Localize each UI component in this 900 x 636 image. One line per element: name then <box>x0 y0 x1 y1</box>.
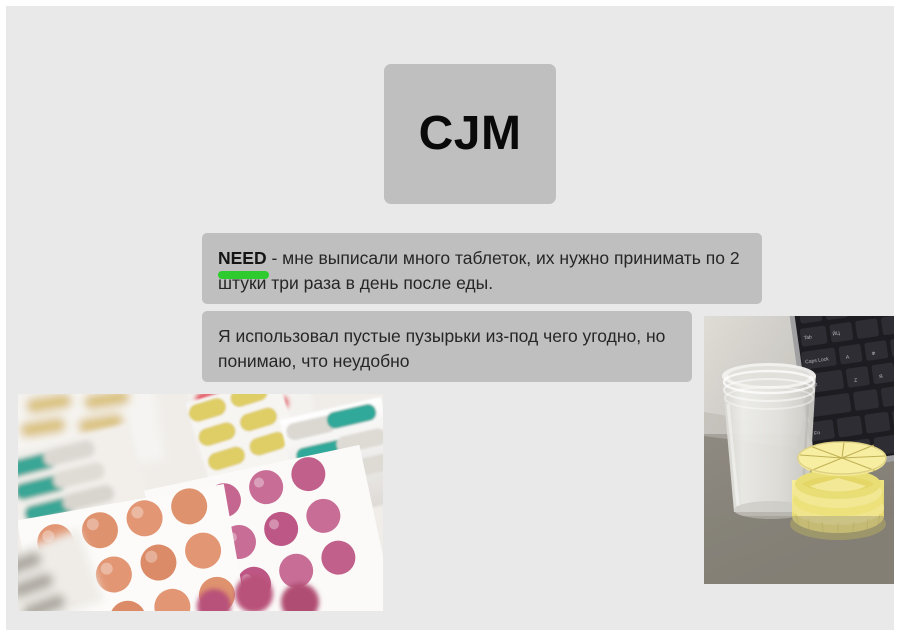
quote-box-bottles: Я использовал пустые пузырьки из-под чег… <box>202 311 692 382</box>
slide-canvas: CJM NEED - мне выписали много таблеток, … <box>0 0 900 636</box>
photo-organizer: Tab ЙЦ Caps Lock A Ф Shift Z Я Fn <box>704 316 894 584</box>
photo-pills <box>18 394 383 611</box>
photo-organizer-illustration: Tab ЙЦ Caps Lock A Ф Shift Z Я Fn <box>704 316 894 584</box>
photo-pills-illustration <box>18 394 383 611</box>
quote-need-text: - мне выписали много таблеток, их нужно … <box>218 248 740 293</box>
need-label: NEED <box>218 246 267 271</box>
need-label-text: NEED <box>218 248 267 268</box>
quote-bottles-text: Я использовал пустые пузырьки из-под чег… <box>218 326 665 371</box>
title-card: CJM <box>384 64 556 204</box>
need-highlight-underline <box>218 271 269 279</box>
quote-box-need: NEED - мне выписали много таблеток, их н… <box>202 233 762 304</box>
page-title: CJM <box>419 110 522 158</box>
